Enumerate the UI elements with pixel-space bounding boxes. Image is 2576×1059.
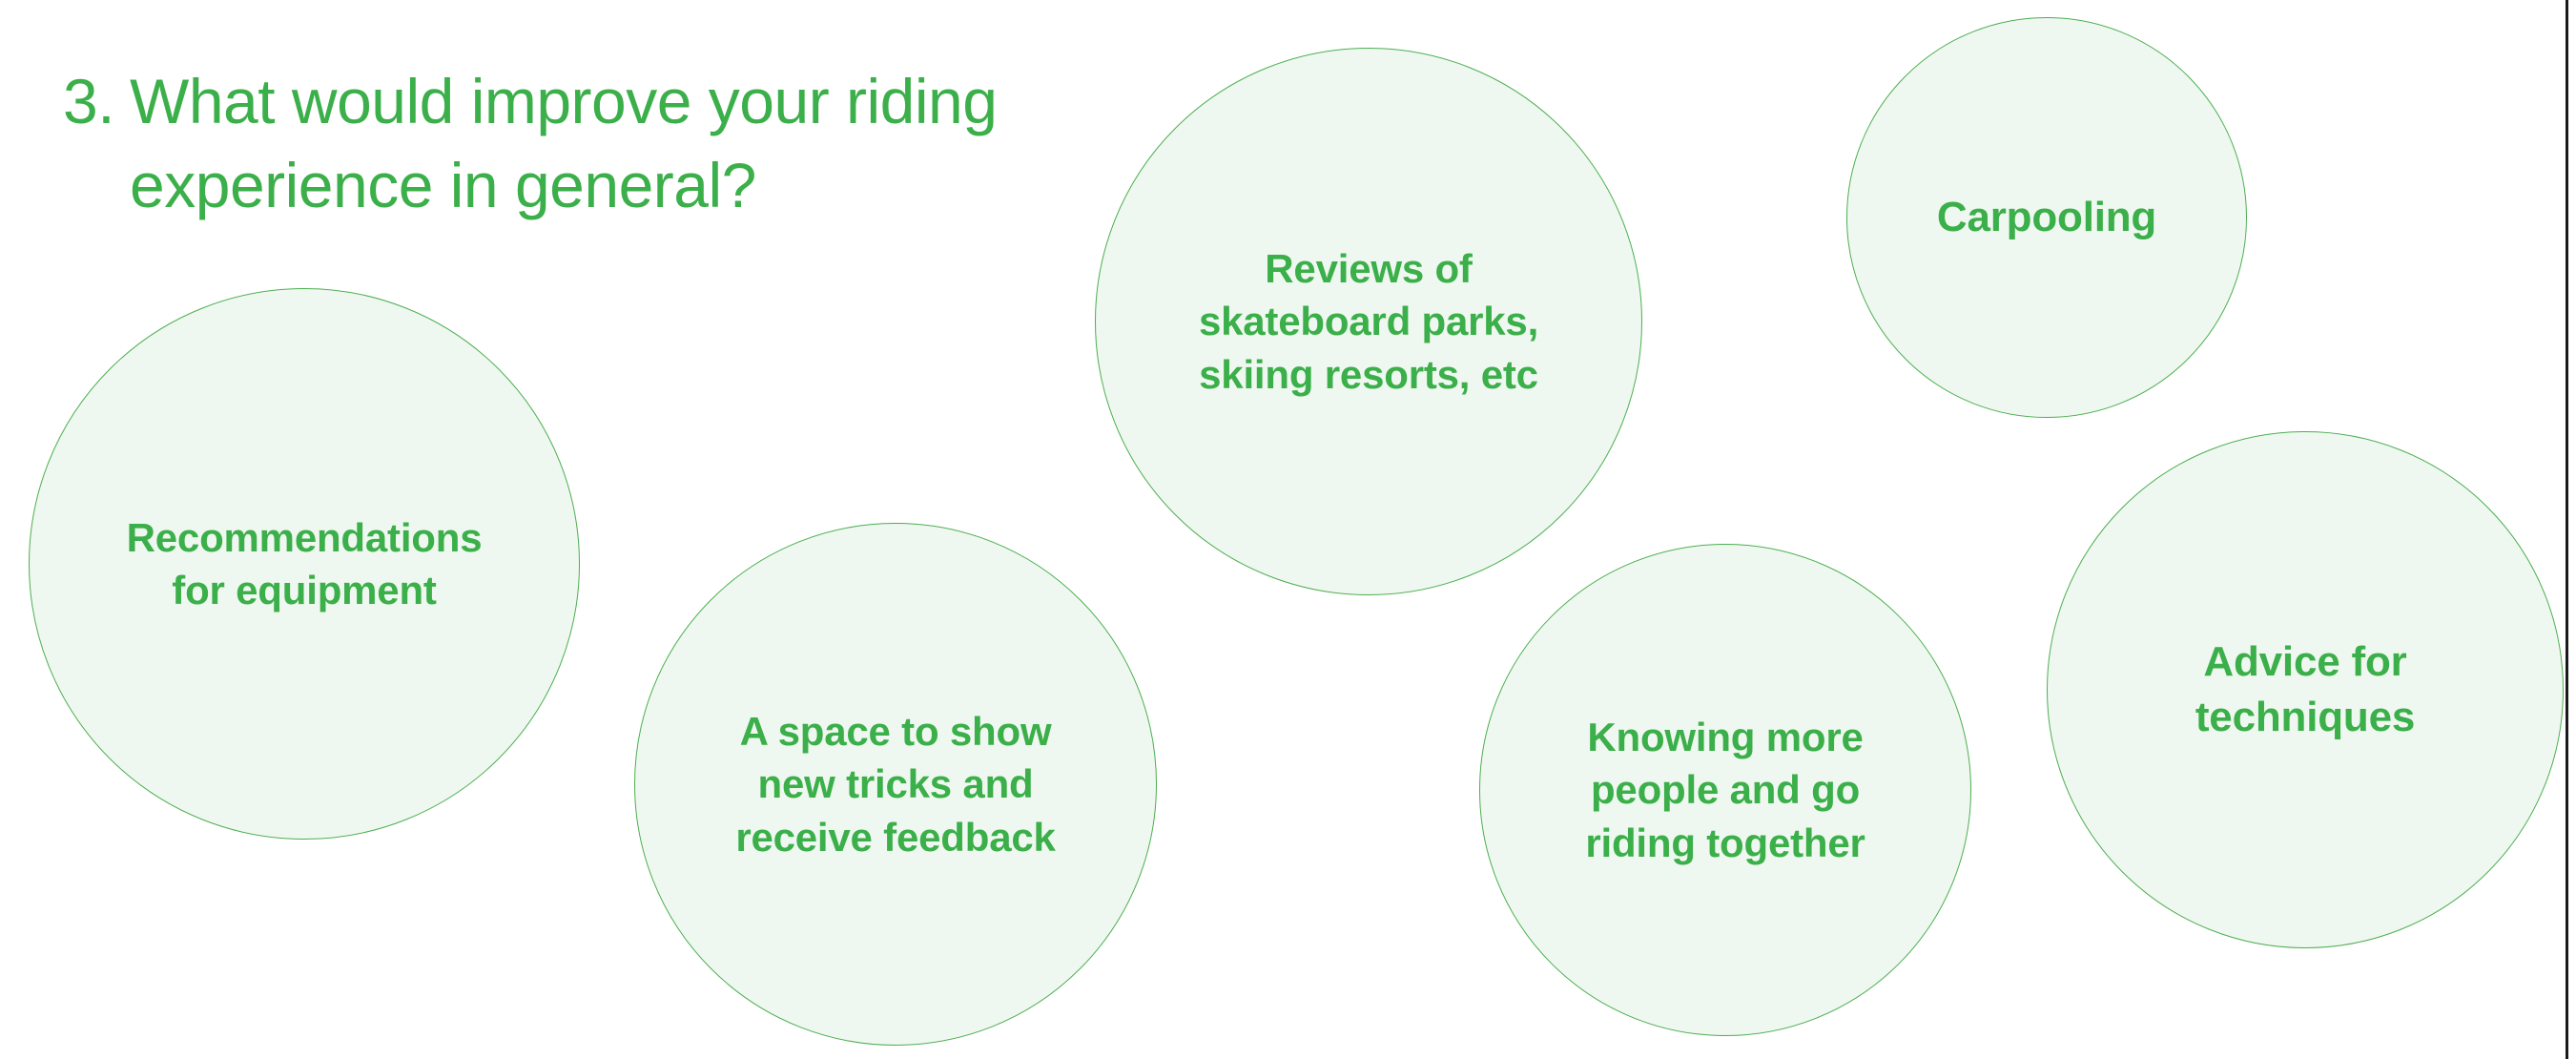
answer-bubble-label: Carpooling: [1927, 190, 2166, 245]
answer-bubble-carpooling[interactable]: Carpooling: [1846, 17, 2247, 418]
slide-canvas: 3. What would improve your riding experi…: [0, 0, 2576, 1059]
answer-bubble-label: Reviews of skateboard parks, skiing reso…: [1189, 242, 1548, 401]
slide-edge-rule: [2566, 0, 2568, 1059]
answer-bubble-reviews-of-venues[interactable]: Reviews of skateboard parks, skiing reso…: [1095, 48, 1642, 595]
answer-bubble-recommendations-for-equipment[interactable]: Recommendations for equipment: [29, 288, 580, 840]
answer-bubble-advice-for-techniques[interactable]: Advice for techniques: [2047, 431, 2564, 948]
answer-bubble-label: Advice for techniques: [2186, 634, 2424, 745]
answer-bubble-label: Recommendations for equipment: [117, 511, 492, 617]
answer-bubble-label: A space to show new tricks and receive f…: [726, 705, 1064, 863]
answer-bubble-knowing-more-people[interactable]: Knowing more people and go riding togeth…: [1479, 544, 1971, 1036]
question-title: What would improve your riding experienc…: [130, 59, 1074, 228]
question-heading: 3. What would improve your riding experi…: [63, 59, 1074, 228]
question-number: 3.: [63, 59, 130, 143]
answer-bubble-label: Knowing more people and go riding togeth…: [1576, 711, 1874, 869]
answer-bubble-space-to-show-tricks[interactable]: A space to show new tricks and receive f…: [634, 523, 1157, 1046]
